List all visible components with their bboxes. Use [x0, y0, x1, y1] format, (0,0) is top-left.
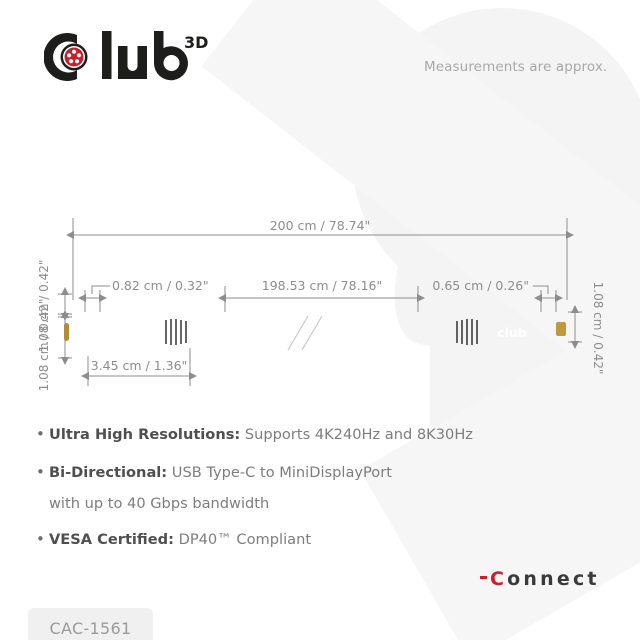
club-3d-logo: 3D	[44, 30, 224, 88]
feature-text-0: Supports 4K240Hz and 8K30Hz	[240, 426, 473, 443]
connect-dash-icon	[480, 576, 487, 579]
part-number-badge: CAC-1561	[28, 608, 153, 640]
feature-continuation-1: with up to 40 Gbps bandwidth	[49, 495, 596, 512]
cable-jacket	[175, 323, 475, 341]
dimension-height-left-upper	[58, 294, 72, 314]
product-spec-sheet: 3D Measurements are approx.	[0, 0, 640, 640]
bullet-icon: •	[36, 424, 49, 444]
feature-item-1: • Bi-Directional: USB Type-C to MiniDisp…	[36, 462, 596, 483]
feature-item-2: • VESA Certified: DP40™ Compliant	[36, 529, 596, 550]
connector-right-marking: club	[497, 325, 527, 340]
dimension-connector-left	[85, 286, 110, 312]
bullet-icon: •	[36, 529, 49, 549]
connect-logo-c: C	[490, 568, 507, 590]
bullet-icon: •	[36, 462, 49, 482]
feature-title-0: Ultra High Resolutions:	[49, 426, 240, 443]
measurements-note: Measurements are approx.	[424, 59, 607, 75]
dimension-height-left-lower-label: 1.08 cm / 0.42"	[37, 299, 51, 392]
feature-title-2: VESA Certified:	[49, 531, 174, 548]
dimension-connector-right	[533, 286, 556, 312]
feature-item-0: • Ultra High Resolutions: Supports 4K240…	[36, 424, 596, 445]
connector-right-minidp: club	[475, 310, 568, 354]
dimension-height-right-label: 1.08 cm / 0.42"	[591, 282, 605, 375]
feature-text-1: USB Type-C to MiniDisplayPort	[167, 464, 392, 481]
connector-left-usb-c: DP40	[62, 310, 168, 354]
feature-text-2: DP40™ Compliant	[174, 531, 311, 548]
connect-logo: Connect	[480, 568, 600, 590]
connect-logo-text: onnect	[507, 568, 600, 590]
dimension-left-connector-width-label: 3.45 cm / 1.36"	[91, 358, 188, 373]
dimension-cable-label: 198.53 cm / 78.16"	[262, 278, 382, 293]
cable-dimension-diagram: 200 cm / 78.74" 0.82 cm / 0.32" 198.53 c…	[0, 190, 640, 415]
feature-list: • Ultra High Resolutions: Supports 4K240…	[36, 424, 596, 567]
connector-left-marking: DP40	[105, 326, 138, 339]
dimension-connector-left-label: 0.82 cm / 0.32"	[112, 278, 209, 293]
dimension-height-right	[568, 312, 582, 342]
dimension-total-label: 200 cm / 78.74"	[270, 218, 371, 233]
feature-title-1: Bi-Directional:	[49, 464, 167, 481]
dimension-connector-right-label: 0.65 cm / 0.26"	[432, 278, 529, 293]
svg-text:3D: 3D	[184, 33, 208, 52]
